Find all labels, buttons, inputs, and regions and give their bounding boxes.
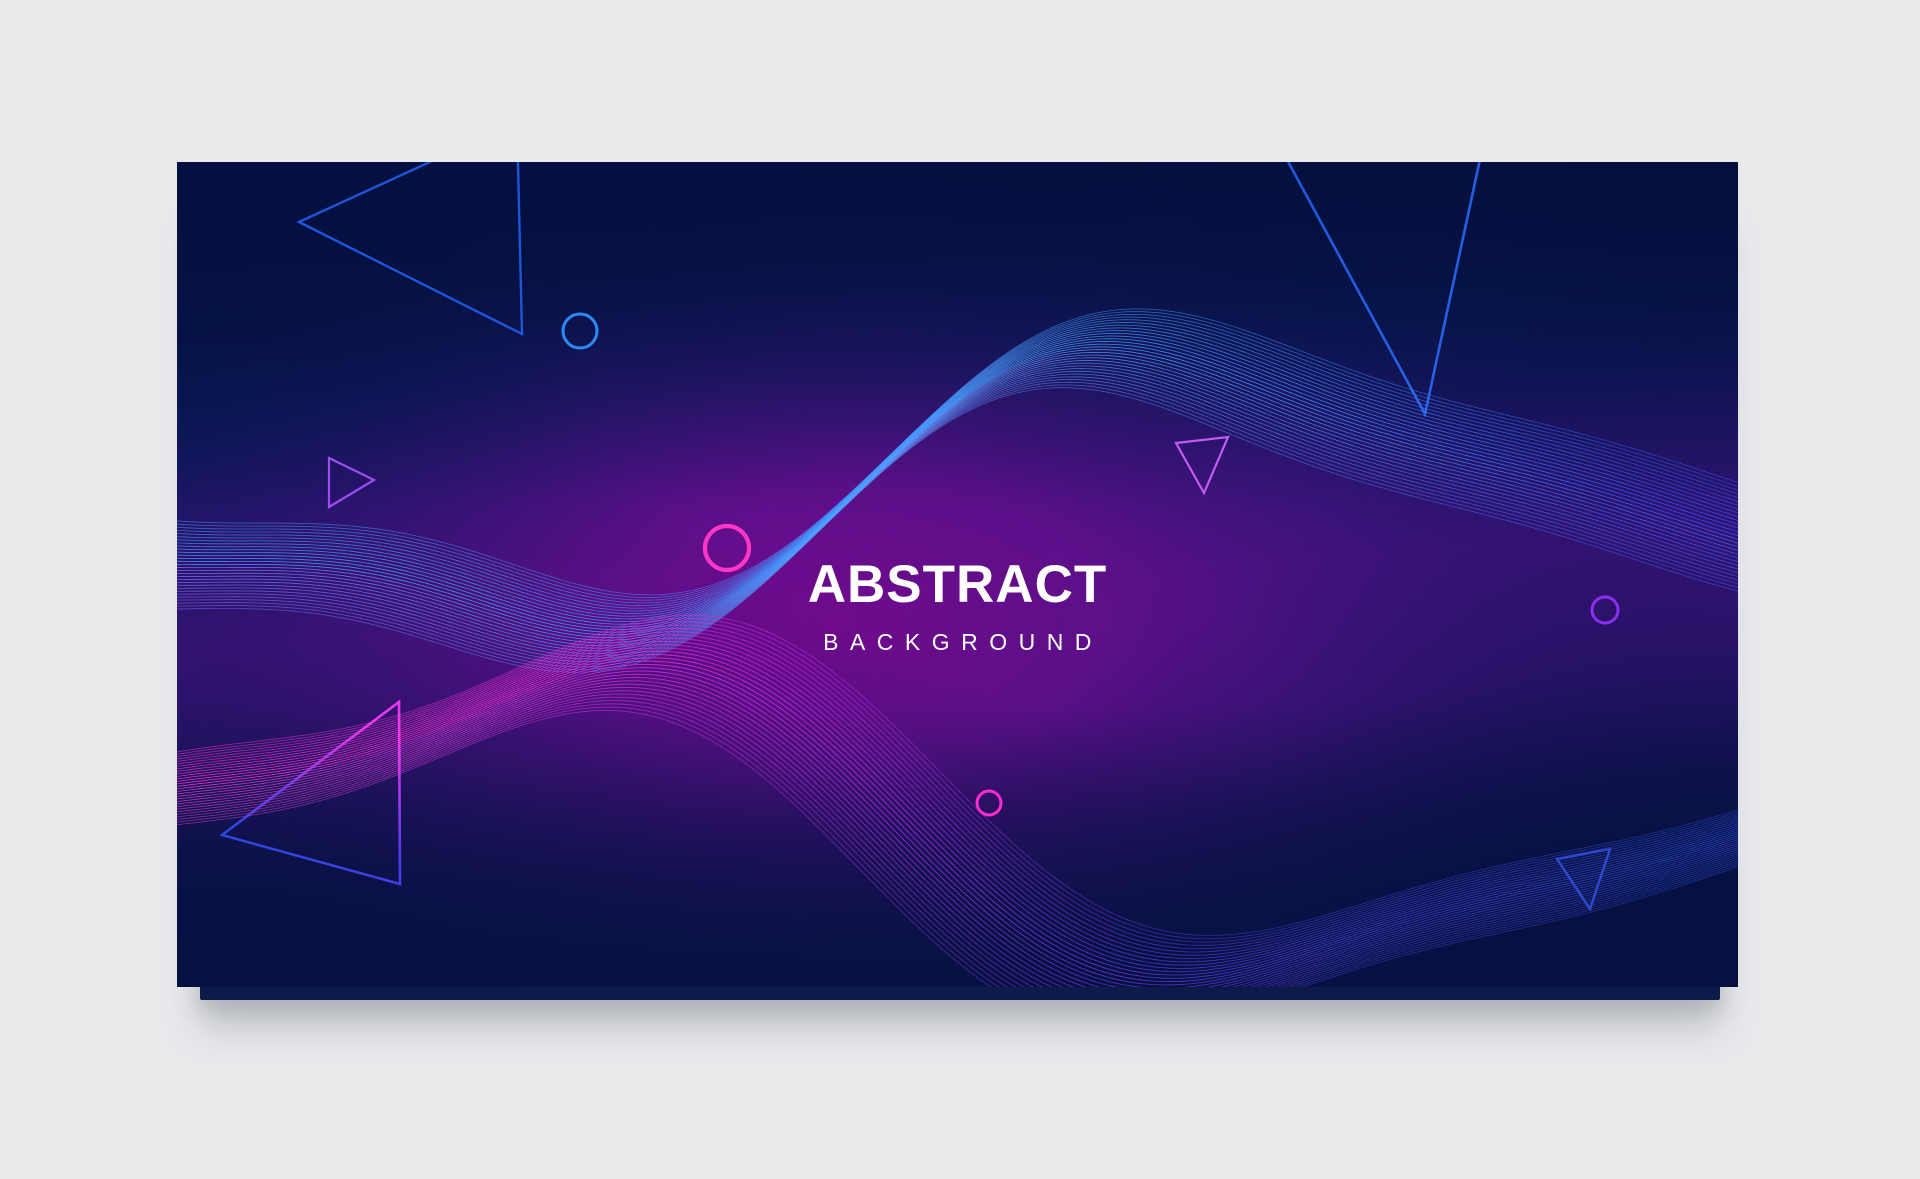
circle-pink-center-icon (705, 526, 749, 570)
circle-pink-small-icon (977, 791, 1001, 815)
foreground-circles-layer (177, 162, 1738, 987)
page-root: ABSTRACT BACKGROUND (0, 0, 1920, 1179)
abstract-background-banner: ABSTRACT BACKGROUND (177, 162, 1738, 987)
